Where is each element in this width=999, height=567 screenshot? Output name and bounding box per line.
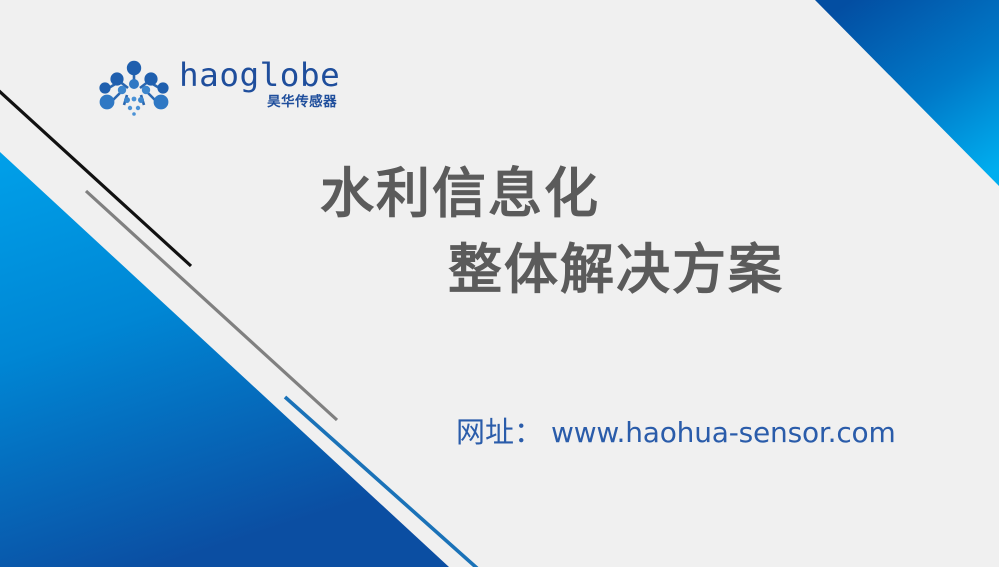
title-line-2: 整体解决方案 <box>448 241 900 299</box>
brand-logo[interactable]: haoglobe 昊华传感器 <box>97 57 327 123</box>
website-line: 网址： www.haohua-sensor.com <box>456 418 896 447</box>
website-url[interactable]: www.haohua-sensor.com <box>551 419 896 447</box>
page-title: 水利信息化 整体解决方案 <box>300 165 900 300</box>
brand-logo-text: haoglobe 昊华传感器 <box>179 57 337 110</box>
website-label: 网址： <box>456 418 543 447</box>
brand-subtitle-cn: 昊华传感器 <box>267 96 337 110</box>
haoglobe-dot-cluster-logo-icon <box>97 59 171 119</box>
brand-wordmark: haoglobe <box>179 59 340 91</box>
title-line-1: 水利信息化 <box>320 165 900 223</box>
slide-canvas: haoglobe 昊华传感器 水利信息化 整体解决方案 网址： www.haoh… <box>0 0 999 567</box>
